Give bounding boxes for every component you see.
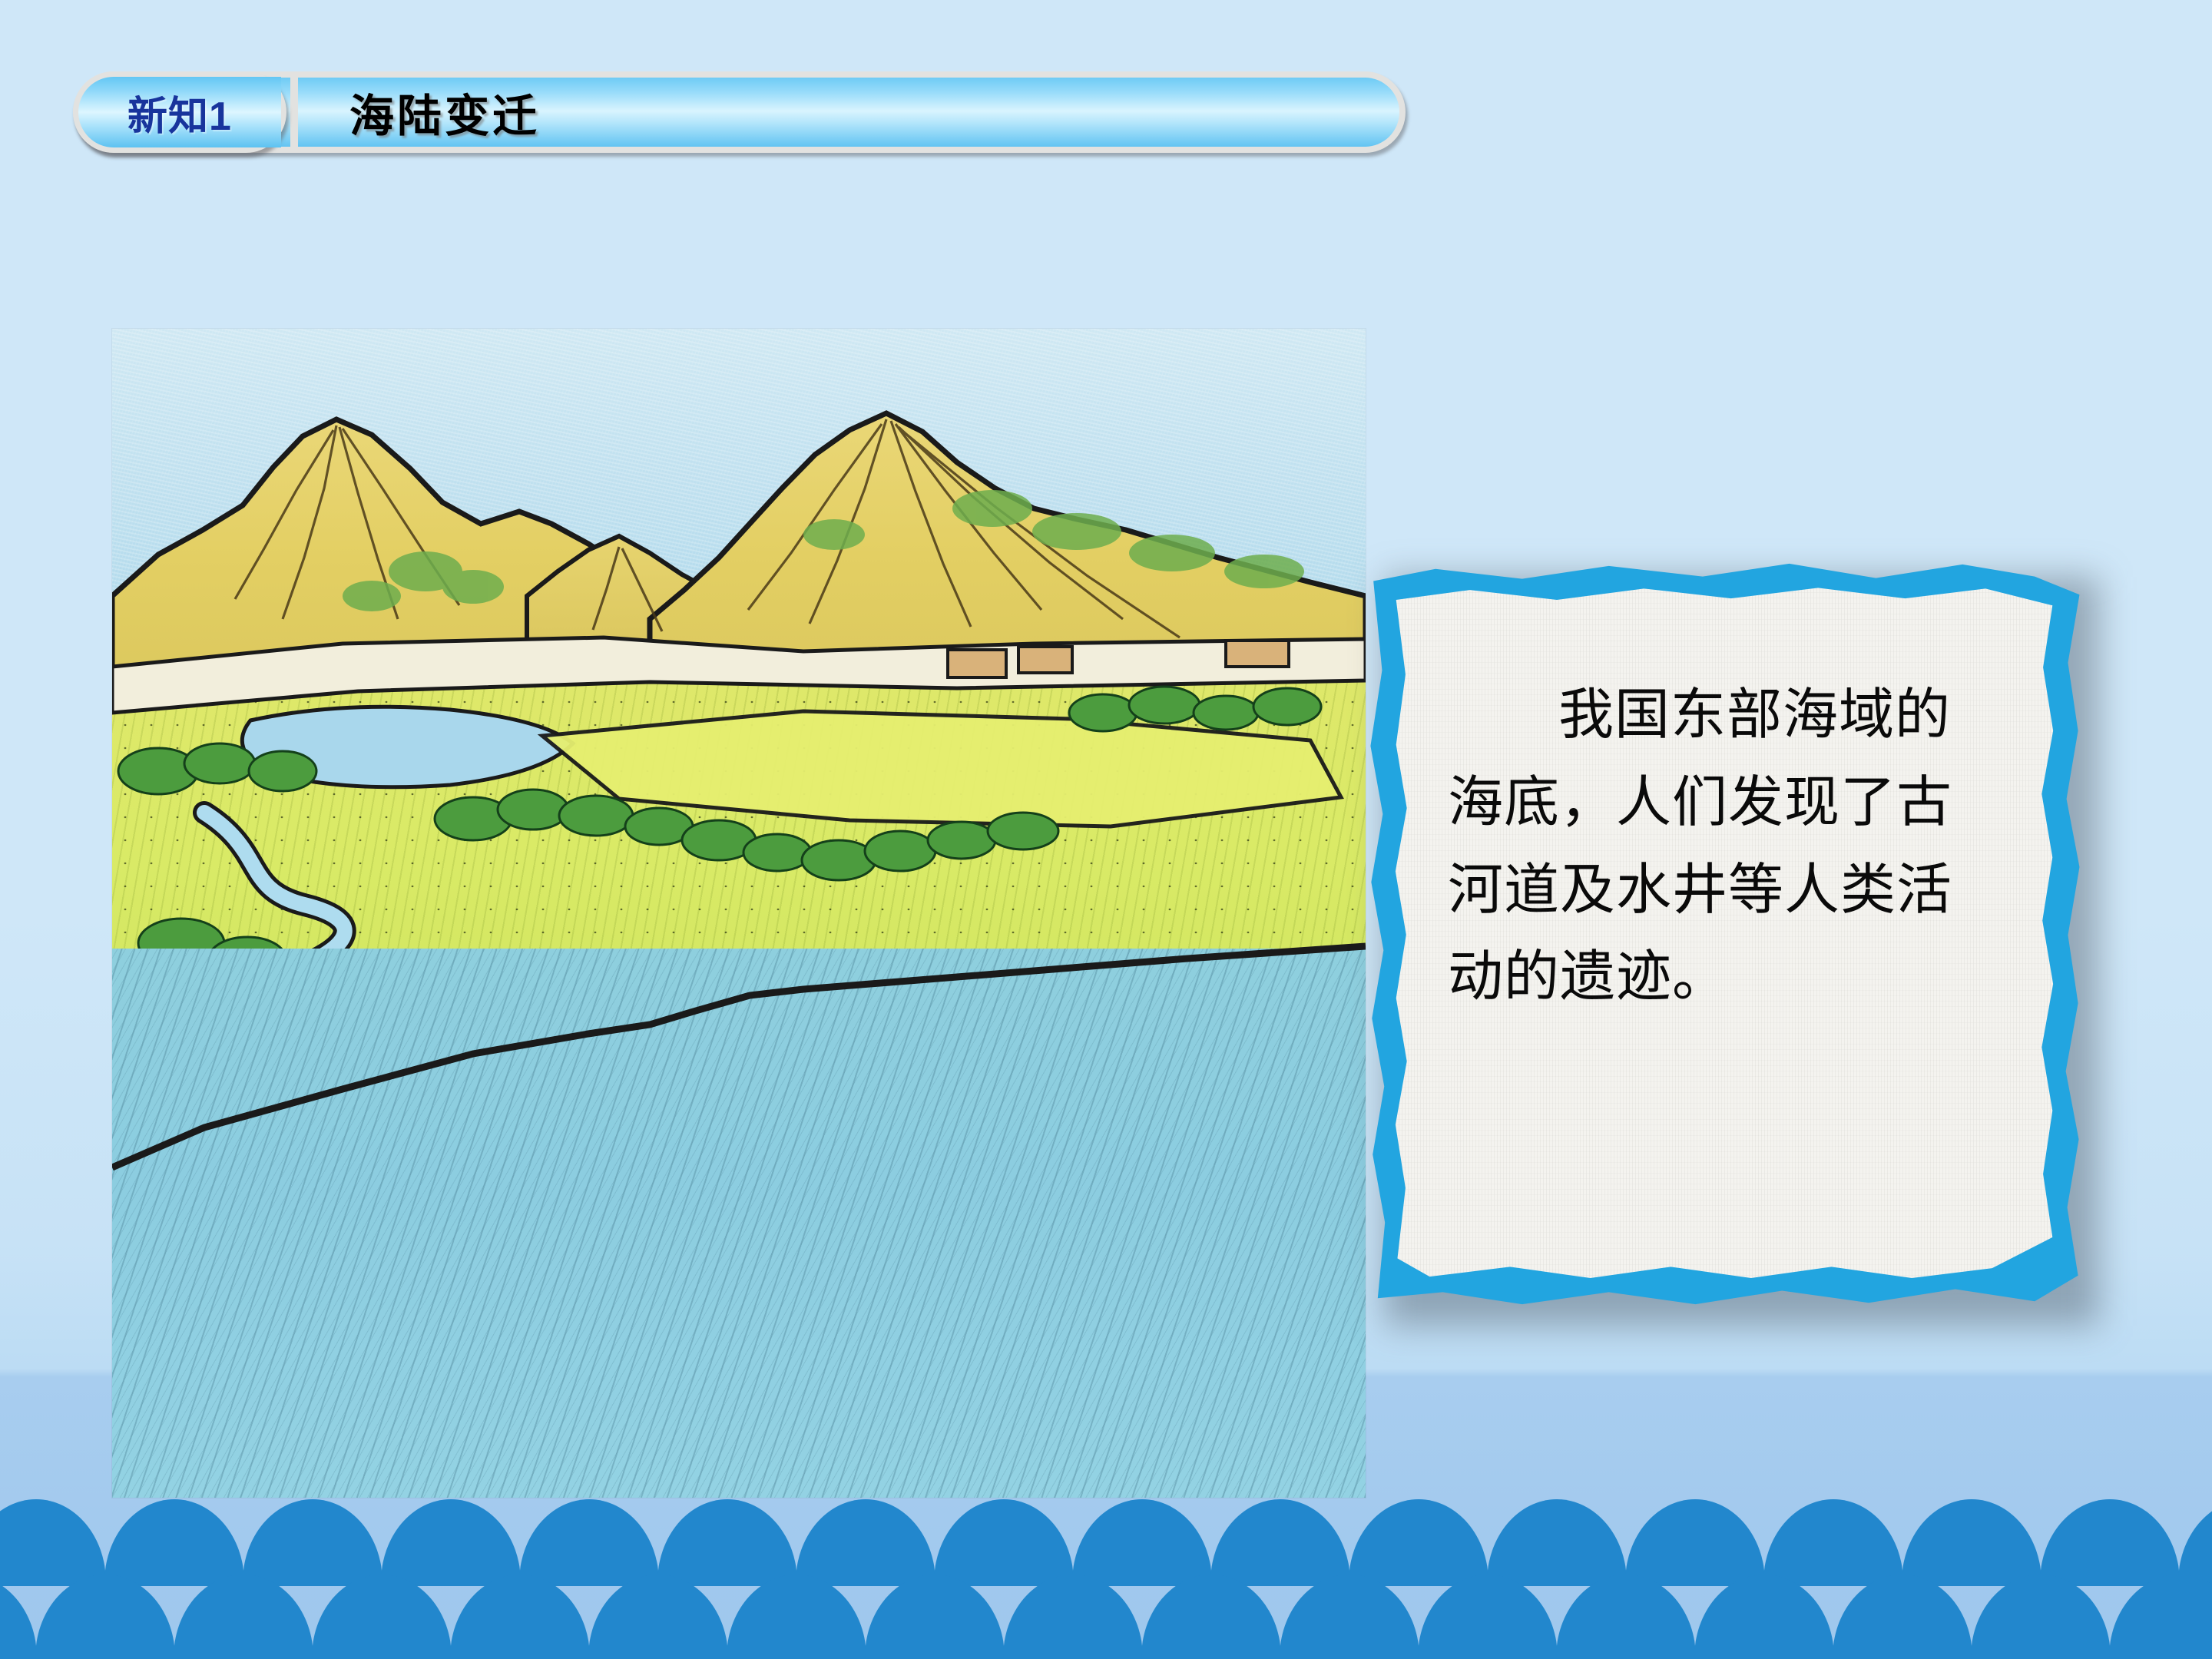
- arch-shape: [104, 1499, 244, 1586]
- arch-shape: [934, 1499, 1074, 1586]
- arch-shape: [0, 1499, 106, 1586]
- arch-shape: [1003, 1575, 1143, 1659]
- arch-shape: [1694, 1575, 1834, 1659]
- arch-shape: [1280, 1575, 1419, 1659]
- arch-shape: [1349, 1499, 1488, 1586]
- arch-shape: [2109, 1575, 2212, 1659]
- arch-shape: [0, 1575, 37, 1659]
- arch-shape: [588, 1575, 728, 1659]
- new-knowledge-badge[interactable]: 新知1: [73, 71, 286, 153]
- arch-shape: [2040, 1499, 2180, 1586]
- section-header-banner: 新知1 海陆变迁: [73, 71, 1406, 153]
- badge-label: 新知1: [78, 77, 281, 147]
- landscape-illustration: [112, 329, 1366, 1498]
- arch-shape: [381, 1499, 521, 1586]
- arch-shape: [1141, 1575, 1281, 1659]
- arch-shape: [1763, 1499, 1903, 1586]
- arch-shape: [519, 1499, 659, 1586]
- arch-shape: [1833, 1575, 1972, 1659]
- arch-shape: [2178, 1499, 2212, 1586]
- arch-shape: [727, 1575, 866, 1659]
- note-body-text: 我国东部海域的海底，人们发现了古河道及水井等人类活动的遗迹。: [1448, 672, 1993, 1022]
- arch-shape: [35, 1575, 175, 1659]
- arch-shape: [243, 1499, 382, 1586]
- arch-shape: [1971, 1575, 2111, 1659]
- arch-shape: [1902, 1499, 2041, 1586]
- slide-canvas: 新知1 海陆变迁: [0, 0, 2212, 1659]
- arch-shape: [1210, 1499, 1350, 1586]
- page-title: 海陆变迁: [349, 71, 540, 153]
- arch-shape: [865, 1575, 1005, 1659]
- badge-inner-gradient: 新知1: [78, 77, 281, 147]
- arch-shape: [312, 1575, 452, 1659]
- arch-decoration-row-top: [0, 1498, 2212, 1586]
- arch-shape: [1556, 1575, 1696, 1659]
- arch-shape: [1072, 1499, 1212, 1586]
- arch-shape: [450, 1575, 590, 1659]
- arch-shape: [174, 1575, 313, 1659]
- banner-divider: [290, 71, 298, 153]
- info-note-card: 我国东部海域的海底，人们发现了古河道及水井等人类活动的遗迹。: [1363, 557, 2104, 1333]
- arch-shape: [1418, 1575, 1558, 1659]
- arch-shape: [1625, 1499, 1765, 1586]
- arch-shape: [796, 1499, 935, 1586]
- arch-shape: [1487, 1499, 1627, 1586]
- arch-shape: [657, 1499, 797, 1586]
- coastline-svg: [112, 897, 1366, 1174]
- arch-decoration-row-bottom: [0, 1575, 2212, 1659]
